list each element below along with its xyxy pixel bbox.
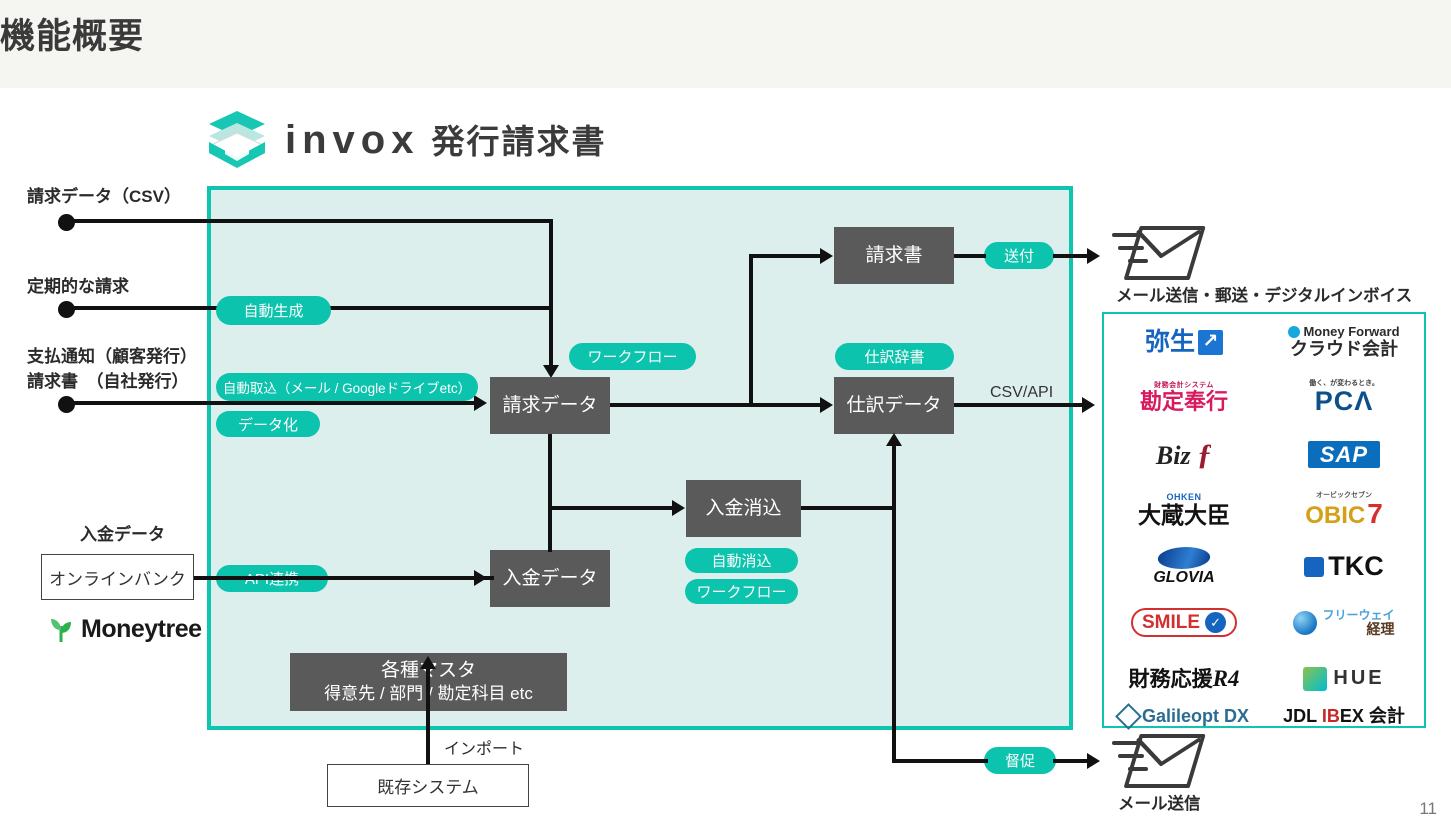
- leaf-icon: [48, 617, 74, 643]
- mf-top-text: Money Forward: [1303, 325, 1399, 340]
- page-number: 11: [1419, 799, 1437, 819]
- freeway-top-text: フリーウェイ: [1322, 609, 1394, 622]
- arrowhead-journal-external: [1082, 397, 1095, 413]
- stacked-layers-icon: [205, 109, 269, 171]
- vendor-logo-okuradaijin: OHKEN 大蔵大臣: [1104, 482, 1264, 538]
- obic-seven-text: 7: [1367, 499, 1383, 528]
- line-down-to-dunning: [892, 506, 896, 761]
- box-invoice-data[interactable]: 請求データ: [490, 377, 610, 434]
- label-import: インポート: [444, 739, 524, 761]
- line-matching-up: [892, 445, 896, 510]
- vendor-logo-freeway: フリーウェイ 経理: [1264, 595, 1424, 651]
- box-legacy-system[interactable]: 既存システム: [327, 764, 529, 807]
- yayoi-text: 弥生: [1145, 329, 1195, 355]
- zaimu-main-text: 財務応援: [1129, 669, 1213, 691]
- line-to-invoice-doc: [749, 254, 822, 258]
- arrowhead-matching-into-journal: [886, 433, 902, 446]
- pill-dunning[interactable]: 督促: [984, 747, 1056, 774]
- vendor-logo-bizf: Biz ƒ: [1104, 426, 1264, 482]
- vendor-logo-moneyforward: Money Forward クラウド会計: [1264, 314, 1424, 370]
- line-branch-up-to-invoice-doc: [749, 254, 753, 405]
- line-dunning-horizontal: [892, 759, 988, 763]
- line-to-payment-matching: [548, 506, 674, 510]
- box-deposit-data[interactable]: 入金データ: [490, 550, 610, 607]
- slide-root: 機能概要 11 invox 発行請求書 請求データ（CSV） 定期的な請求 支払…: [0, 0, 1451, 825]
- pill-auto-import[interactable]: 自動取込（メール / Googleドライブetc）: [216, 373, 478, 401]
- line-invoice-data-down: [548, 434, 552, 552]
- pill-workflow-invoice[interactable]: ワークフロー: [569, 343, 696, 370]
- freeway-bottom-text: 経理: [1367, 622, 1395, 637]
- moneytree-wordmark: Moneytree: [81, 615, 202, 644]
- mf-bottom-text: クラウド会計: [1290, 339, 1398, 359]
- arrowhead-into-mail-bottom: [1087, 753, 1100, 769]
- accounting-software-panel: 弥生 ↗ Money Forward クラウド会計 財務会計システム 勘定奉行 …: [1102, 312, 1426, 728]
- freeway-globe-icon: [1293, 611, 1317, 635]
- obic-sup-text: オービックセブン: [1316, 492, 1372, 499]
- vendor-logo-jdl: JDL IBEX 会計: [1264, 707, 1424, 726]
- hue-text: HUE: [1333, 668, 1384, 689]
- edge-label-csv-api: CSV/API: [990, 382, 1053, 404]
- brand-suffix: 発行請求書: [431, 125, 606, 158]
- box-online-bank[interactable]: オンラインバンク: [41, 554, 194, 600]
- line-journal-to-external: [954, 403, 1087, 407]
- line-matching-right: [801, 506, 896, 510]
- yayoi-arrow-icon: ↗: [1198, 330, 1223, 355]
- output-label-mail-bottom: メール送信: [1118, 793, 1201, 815]
- galileopt-diamond-icon: [1115, 703, 1142, 730]
- glovia-swoosh-icon: [1156, 547, 1213, 569]
- arrowhead-import-into-masters: [420, 656, 436, 669]
- line-invoice-to-journal: [610, 403, 822, 407]
- vendor-logo-galileopt: Galileopt DX: [1104, 707, 1264, 726]
- pill-workflow-matching[interactable]: ワークフロー: [685, 579, 798, 604]
- arrowhead-into-journal-data: [820, 397, 833, 413]
- line-bank-to-deposit-data: [194, 576, 494, 580]
- line-csv-down: [549, 219, 553, 367]
- vendor-logo-sap: SAP: [1264, 426, 1424, 482]
- pill-datafy[interactable]: データ化: [216, 411, 320, 437]
- arrowhead-into-invoice-doc: [820, 248, 833, 264]
- vendor-logo-tkc: TKC: [1264, 539, 1424, 595]
- brand-name: invox: [285, 120, 419, 160]
- line-csv-horizontal: [66, 219, 553, 223]
- vendor-logo-glovia: GLOVIA: [1104, 539, 1264, 595]
- bizf-f-text: ƒ: [1197, 438, 1212, 471]
- deposit-heading: 入金データ: [80, 524, 165, 547]
- hue-mark-icon: [1303, 667, 1327, 691]
- input-label-recurring: 定期的な請求: [27, 276, 129, 299]
- bizf-biz-text: Biz: [1156, 441, 1191, 470]
- input-label-notice: 支払通知（顧客発行） 請求書 （自社発行）: [27, 345, 197, 394]
- vendor-logo-kanjobugyo: 財務会計システム 勘定奉行: [1104, 370, 1264, 426]
- pill-auto-generate[interactable]: 自動生成: [216, 296, 331, 325]
- vendor-logo-obic7: オービックセブン OBIC 7: [1264, 482, 1424, 538]
- moneytree-logo: Moneytree: [48, 615, 202, 644]
- mail-envelope-top-icon: [1112, 222, 1208, 284]
- page-title: 機能概要: [0, 16, 400, 58]
- vendor-logo-hue: HUE: [1264, 651, 1424, 707]
- jdl-ib-text: IB: [1322, 706, 1340, 726]
- box-invoice-document[interactable]: 請求書: [834, 227, 954, 284]
- vendor-logo-pca: 働く、が変わるとき。 PCΛ: [1264, 370, 1424, 426]
- vendor-logo-zaimuoen: 財務応援 R4: [1104, 651, 1264, 707]
- pca-main-text: PCΛ: [1315, 387, 1374, 417]
- arrowhead-notice-into-invoice-data: [474, 395, 487, 411]
- glovia-text: GLOVIA: [1153, 570, 1214, 586]
- moneyforward-mark-icon: [1288, 326, 1300, 338]
- zaimu-r4-text: R4: [1213, 667, 1240, 691]
- galileopt-text: Galileopt DX: [1142, 707, 1249, 726]
- vendor-logo-smile: SMILE ✓: [1104, 595, 1264, 651]
- arrowhead-into-mail-top: [1087, 248, 1100, 264]
- pill-auto-matching[interactable]: 自動消込: [685, 548, 798, 573]
- jdl-prefix-text: JDL: [1283, 706, 1322, 726]
- output-label-mail-top: メール送信・郵送・デジタルインボイス: [1116, 285, 1412, 307]
- box-journal-data[interactable]: 仕訳データ: [834, 377, 954, 434]
- input-label-csv: 請求データ（CSV）: [27, 186, 181, 209]
- box-payment-matching[interactable]: 入金消込: [686, 480, 801, 537]
- pill-journal-dictionary[interactable]: 仕訳辞書: [835, 343, 954, 370]
- pill-send[interactable]: 送付: [984, 242, 1054, 269]
- ohken-main-text: 大蔵大臣: [1138, 503, 1230, 528]
- smile-text: SMILE: [1142, 613, 1200, 633]
- kanjo-main-text: 勘定奉行: [1140, 390, 1228, 414]
- brand-logo: invox 発行請求書: [205, 108, 606, 172]
- line-import-up: [426, 669, 430, 766]
- tkc-mark-icon: [1304, 557, 1324, 577]
- brand-wordmark: invox 発行請求書: [285, 120, 606, 160]
- arrowhead-into-payment-matching: [672, 500, 685, 516]
- arrowhead-into-deposit-data: [474, 570, 487, 586]
- obic-main-text: OBIC: [1305, 503, 1365, 528]
- line-notice-horizontal: [66, 401, 476, 405]
- sap-text: SAP: [1308, 441, 1380, 468]
- tkc-text: TKC: [1328, 552, 1384, 580]
- mail-envelope-bottom-icon: [1112, 730, 1208, 792]
- vendor-logo-yayoi: 弥生 ↗: [1104, 314, 1264, 370]
- jdl-suffix-text: EX 会計: [1340, 706, 1405, 726]
- smile-check-icon: ✓: [1205, 612, 1226, 633]
- line-invoice-doc-to-send: [954, 254, 986, 258]
